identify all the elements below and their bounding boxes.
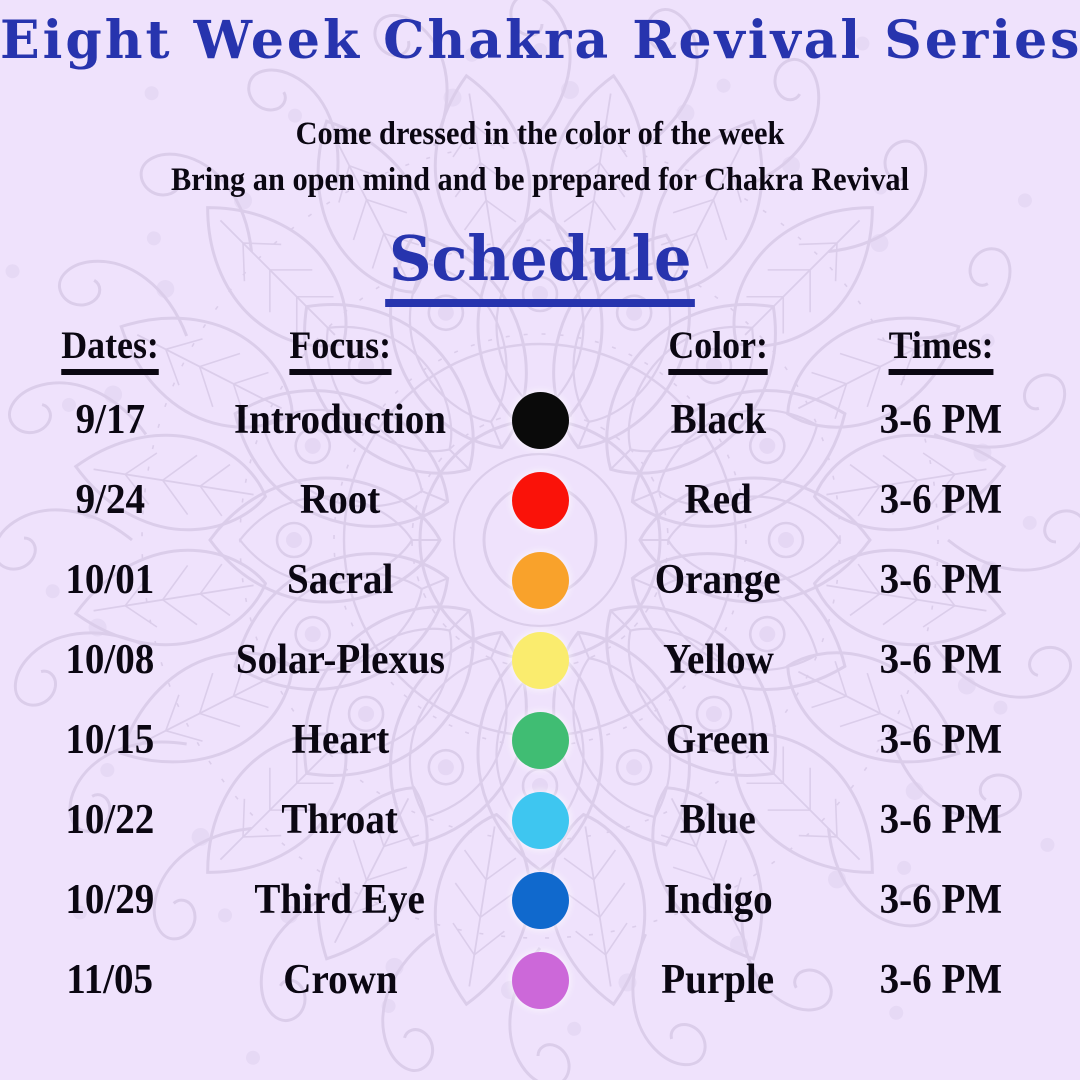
cell-focus-label: Solar-Plexus <box>235 636 444 684</box>
column-header-color-label: Color: <box>668 323 768 375</box>
column-header-times: Times: <box>836 318 1046 380</box>
cell-date-label: 11/05 <box>67 956 154 1004</box>
table-row: 10/01 Sacral Orange 3-6 PM <box>0 540 1080 620</box>
cell-color-swatch <box>490 540 590 620</box>
cell-color-name-label: Green <box>666 716 769 764</box>
color-swatch-icon <box>512 792 569 849</box>
poster-canvas: Eight Week Chakra Revival Series Come dr… <box>0 0 1080 1080</box>
cell-time: 3-6 PM <box>836 780 1046 860</box>
color-swatch-icon <box>512 872 569 929</box>
cell-color-swatch <box>490 940 590 1020</box>
cell-time: 3-6 PM <box>836 540 1046 620</box>
cell-color-swatch <box>490 780 590 860</box>
cell-focus: Introduction <box>170 380 510 460</box>
table-row: 11/05 Crown Purple 3-6 PM <box>0 940 1080 1020</box>
column-header-focus: Focus: <box>170 318 510 380</box>
cell-color-name: Yellow <box>600 620 836 700</box>
cell-color-name: Red <box>600 460 836 540</box>
cell-color-name: Orange <box>600 540 836 620</box>
schedule-heading-label: Schedule <box>385 222 695 307</box>
cell-time-label: 3-6 PM <box>880 876 1003 924</box>
schedule-table: Dates: Focus: Color: Times: 9/17 Introdu… <box>0 318 1080 1020</box>
color-swatch-icon <box>512 632 569 689</box>
table-row: 10/08 Solar-Plexus Yellow 3-6 PM <box>0 620 1080 700</box>
cell-color-name: Purple <box>600 940 836 1020</box>
cell-focus: Root <box>170 460 510 540</box>
cell-color-name-label: Purple <box>662 956 775 1004</box>
cell-date-label: 10/29 <box>66 876 155 924</box>
table-row: 10/29 Third Eye Indigo 3-6 PM <box>0 860 1080 940</box>
color-swatch-icon <box>512 392 569 449</box>
cell-date-label: 10/08 <box>66 636 155 684</box>
cell-focus: Crown <box>170 940 510 1020</box>
cell-color-swatch <box>490 380 590 460</box>
column-header-dates-label: Dates: <box>61 323 159 375</box>
cell-date-label: 10/22 <box>66 796 155 844</box>
color-swatch-icon <box>512 712 569 769</box>
cell-color-name-label: Blue <box>680 796 756 844</box>
cell-time: 3-6 PM <box>836 620 1046 700</box>
subtitle-block: Come dressed in the color of the week Br… <box>0 112 1080 203</box>
cell-date-label: 9/17 <box>75 396 144 444</box>
cell-time-label: 3-6 PM <box>880 716 1003 764</box>
cell-color-name: Indigo <box>600 860 836 940</box>
cell-time-label: 3-6 PM <box>880 796 1003 844</box>
cell-focus-label: Third Eye <box>255 876 425 924</box>
cell-color-name: Green <box>600 700 836 780</box>
table-row: 9/24 Root Red 3-6 PM <box>0 460 1080 540</box>
cell-color-name-label: Red <box>684 476 751 524</box>
cell-time: 3-6 PM <box>836 700 1046 780</box>
cell-focus: Sacral <box>170 540 510 620</box>
cell-color-name-label: Black <box>670 396 765 444</box>
color-swatch-icon <box>512 952 569 1009</box>
table-row: 9/17 Introduction Black 3-6 PM <box>0 380 1080 460</box>
cell-focus: Solar-Plexus <box>170 620 510 700</box>
cell-date-label: 10/01 <box>66 556 155 604</box>
cell-date-label: 10/15 <box>66 716 155 764</box>
table-row: 10/15 Heart Green 3-6 PM <box>0 700 1080 780</box>
cell-focus-label: Sacral <box>287 556 393 604</box>
cell-color-name: Blue <box>600 780 836 860</box>
cell-date-label: 9/24 <box>75 476 144 524</box>
cell-focus-label: Crown <box>283 956 397 1004</box>
subtitle-line-2: Bring an open mind and be prepared for C… <box>43 158 1037 204</box>
cell-time-label: 3-6 PM <box>880 396 1003 444</box>
subtitle-line-1: Come dressed in the color of the week <box>43 112 1037 158</box>
cell-focus: Throat <box>170 780 510 860</box>
cell-time: 3-6 PM <box>836 380 1046 460</box>
column-header-color: Color: <box>600 318 836 380</box>
cell-focus: Heart <box>170 700 510 780</box>
table-row: 10/22 Throat Blue 3-6 PM <box>0 780 1080 860</box>
column-header-times-label: Times: <box>889 323 994 375</box>
column-header-focus-label: Focus: <box>289 323 391 375</box>
cell-focus: Third Eye <box>170 860 510 940</box>
cell-time: 3-6 PM <box>836 860 1046 940</box>
cell-time: 3-6 PM <box>836 940 1046 1020</box>
cell-time-label: 3-6 PM <box>880 556 1003 604</box>
cell-color-name: Black <box>600 380 836 460</box>
cell-focus-label: Throat <box>282 796 398 844</box>
cell-time-label: 3-6 PM <box>880 476 1003 524</box>
cell-color-swatch <box>490 620 590 700</box>
schedule-heading: Schedule <box>0 222 1080 307</box>
cell-time: 3-6 PM <box>836 460 1046 540</box>
cell-color-swatch <box>490 700 590 780</box>
table-header-row: Dates: Focus: Color: Times: <box>0 318 1080 380</box>
color-swatch-icon <box>512 472 569 529</box>
cell-color-name-label: Orange <box>655 556 781 604</box>
cell-color-swatch <box>490 860 590 940</box>
cell-focus-label: Heart <box>291 716 389 764</box>
cell-color-name-label: Indigo <box>664 876 773 924</box>
cell-time-label: 3-6 PM <box>880 636 1003 684</box>
cell-focus-label: Root <box>300 476 380 524</box>
cell-focus-label: Introduction <box>234 396 446 444</box>
color-swatch-icon <box>512 552 569 609</box>
cell-color-name-label: Yellow <box>663 636 774 684</box>
cell-time-label: 3-6 PM <box>880 956 1003 1004</box>
page-title: Eight Week Chakra Revival Series <box>0 14 1080 69</box>
cell-color-swatch <box>490 460 590 540</box>
